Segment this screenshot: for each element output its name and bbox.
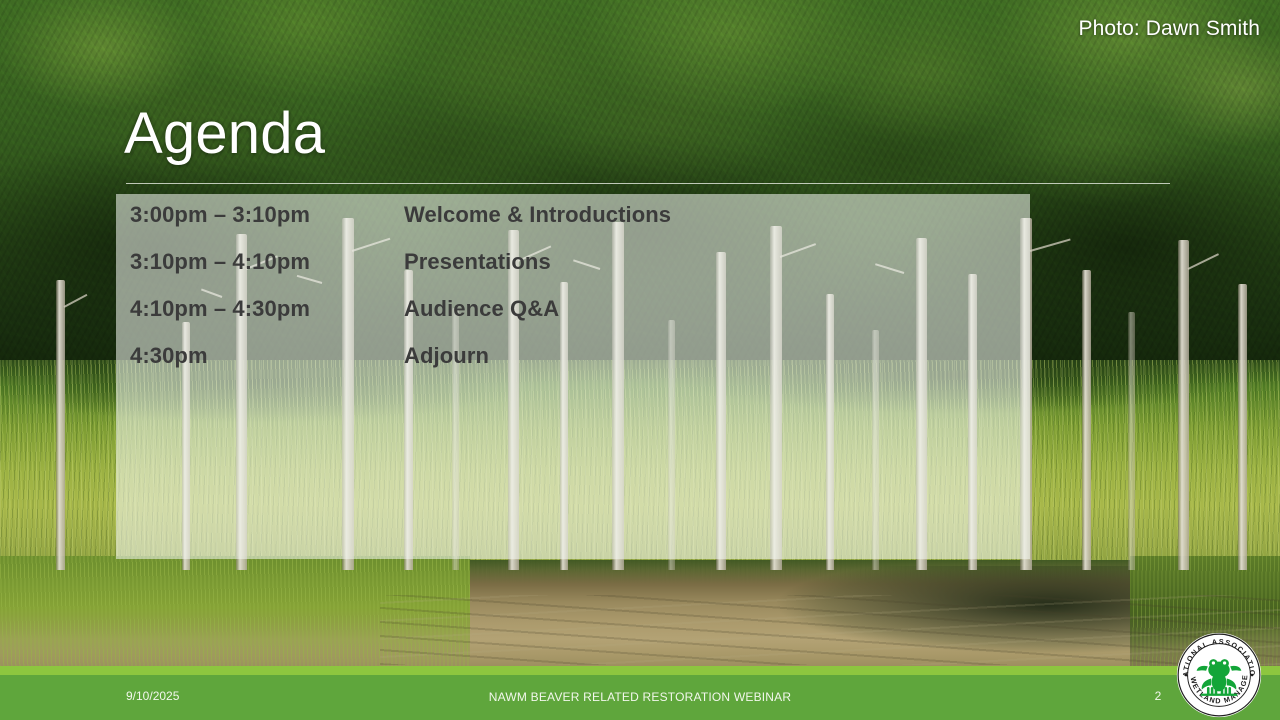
footer-deck-title: NAWM BEAVER RELATED RESTORATION WEBINAR: [0, 691, 1280, 703]
snag: [1178, 240, 1189, 570]
photo-credit-label: Photo: Dawn Smith: [1079, 18, 1260, 39]
agenda-time: 4:30pm: [130, 343, 404, 369]
slide-number: 2: [1146, 690, 1170, 702]
snag: [1082, 270, 1091, 570]
agenda-item: Welcome & Introductions: [404, 202, 671, 228]
agenda-time: 4:10pm – 4:30pm: [130, 296, 404, 322]
agenda-item: Adjourn: [404, 343, 489, 369]
title-divider-rule: [126, 183, 1170, 184]
presentation-slide: Photo: Dawn Smith Agenda 3:00pm – 3:10pm…: [0, 0, 1280, 720]
snag-branch: [64, 294, 88, 308]
agenda-content-panel: 3:00pm – 3:10pm Welcome & Introductions …: [116, 194, 1030, 559]
snag: [1238, 284, 1247, 570]
nawm-seal-logo: NATIONAL ASSOCIATION OF WETLAND MANAGERS: [1176, 632, 1262, 718]
agenda-table: 3:00pm – 3:10pm Welcome & Introductions …: [116, 194, 671, 390]
page-title: Agenda: [124, 104, 325, 165]
table-row: 3:10pm – 4:10pm Presentations: [130, 249, 671, 296]
agenda-time: 3:00pm – 3:10pm: [130, 202, 404, 228]
snag: [56, 280, 65, 570]
table-row: 4:10pm – 4:30pm Audience Q&A: [130, 296, 671, 343]
table-row: 3:00pm – 3:10pm Welcome & Introductions: [130, 202, 671, 249]
snag: [1128, 312, 1135, 570]
snag-branch: [1188, 253, 1219, 270]
agenda-item: Presentations: [404, 249, 551, 275]
mudflat-texture: [380, 595, 1280, 665]
table-row: 4:30pm Adjourn: [130, 343, 671, 390]
agenda-item: Audience Q&A: [404, 296, 559, 322]
agenda-time: 3:10pm – 4:10pm: [130, 249, 404, 275]
snag-branch: [1030, 238, 1071, 251]
footer-accent-stripe: [0, 666, 1280, 675]
